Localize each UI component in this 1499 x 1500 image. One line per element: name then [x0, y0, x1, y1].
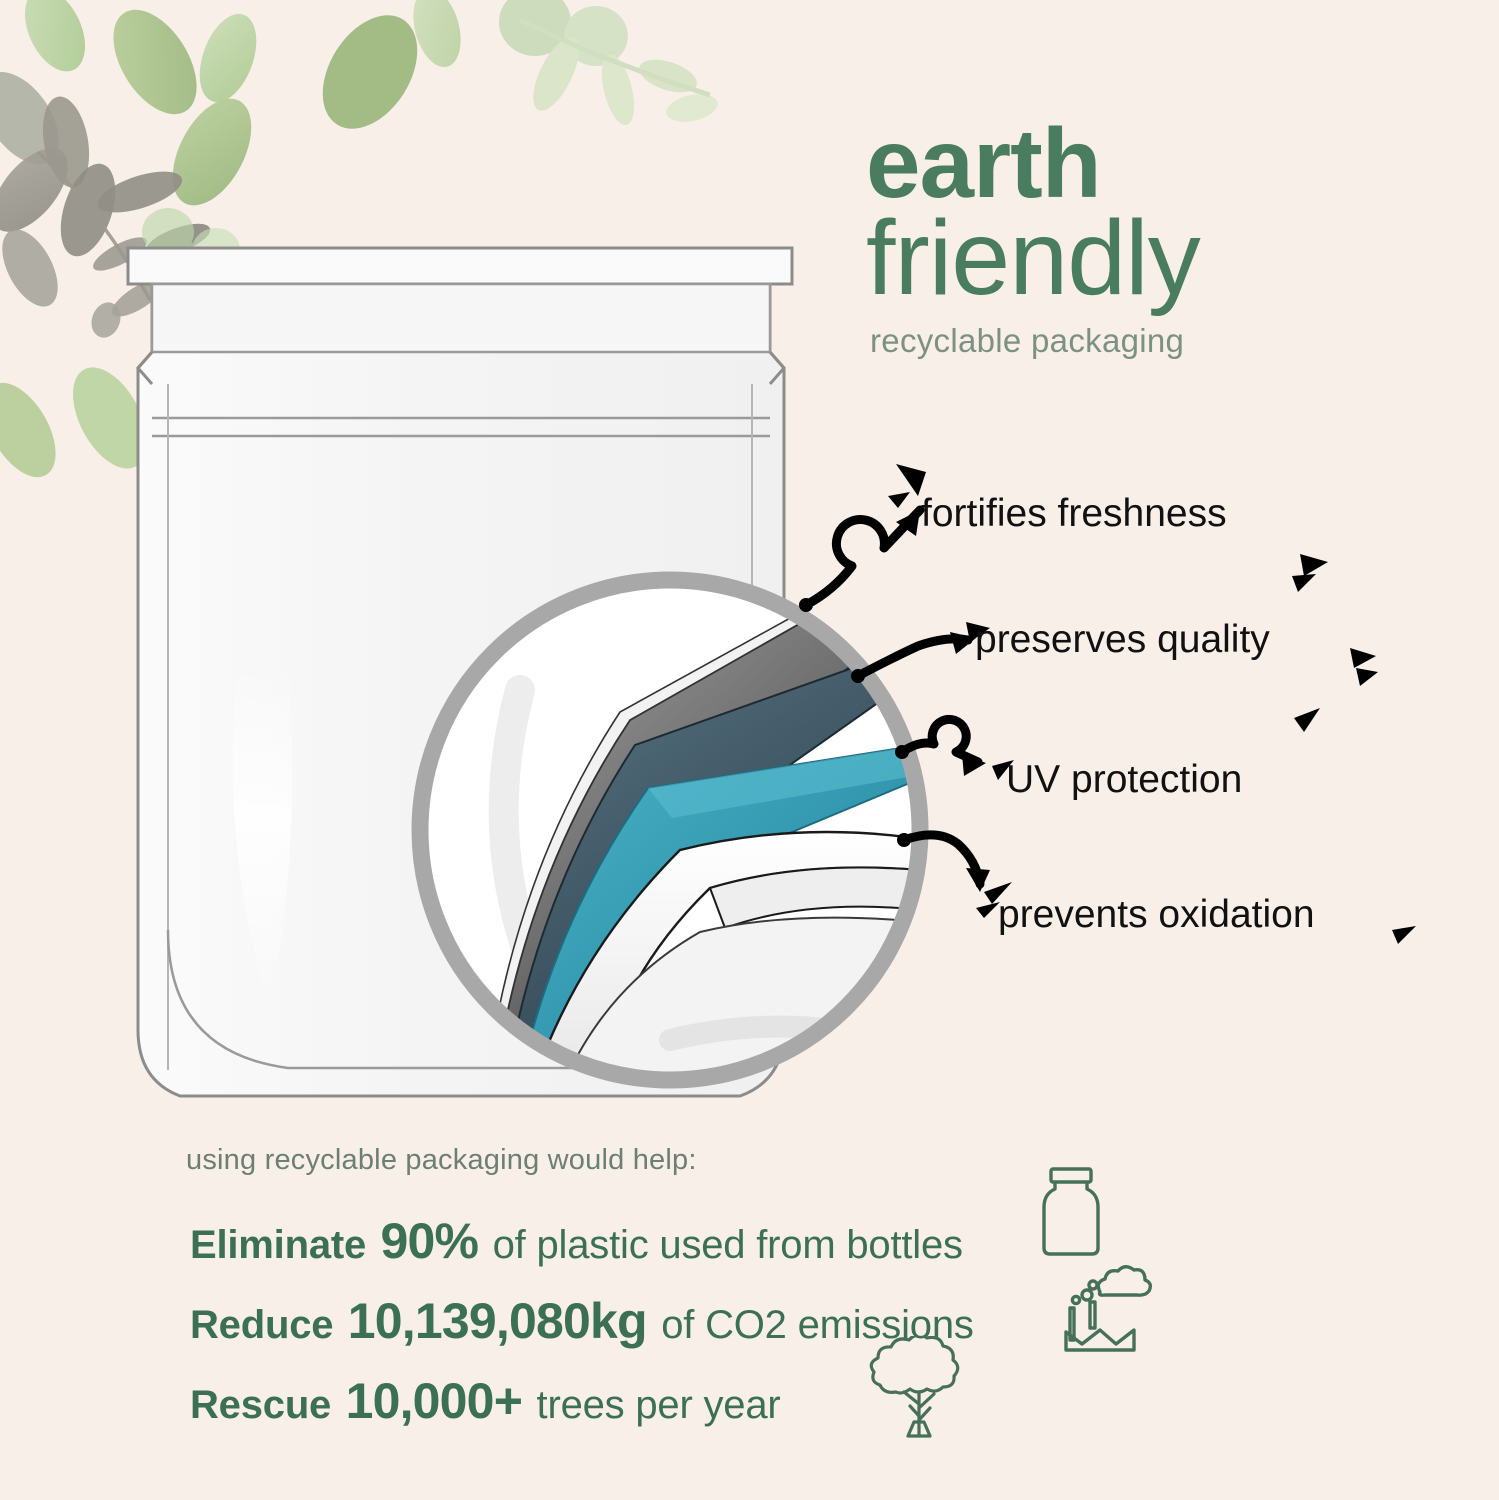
feature-label-preserves-quality: preserves quality — [975, 618, 1270, 662]
infographic-canvas: earth friendly recyclable packaging fort… — [0, 0, 1499, 1500]
bottle-icon — [1034, 1166, 1108, 1263]
factory-icon — [1060, 1262, 1156, 1359]
stat-row-plastic: Eliminate 90% of plastic used from bottl… — [190, 1212, 963, 1270]
stat-rest-plastic: of plastic used from bottles — [493, 1223, 963, 1267]
feature-label-fortifies-freshness: fortifies freshness — [921, 492, 1227, 536]
feature-label-prevents-oxidation: prevents oxidation — [998, 893, 1315, 937]
headline-line-1: earth — [866, 118, 1466, 208]
leaf-group-eucalyptus-top — [499, 0, 720, 128]
stat-row-co2: Reduce 10,139,080kg of CO2 emissions — [190, 1292, 974, 1350]
stat-verb-trees: Rescue — [190, 1383, 331, 1427]
headline-block: earth friendly recyclable packaging — [866, 118, 1466, 360]
headline-subtitle: recyclable packaging — [870, 322, 1466, 360]
stat-verb-co2: Reduce — [190, 1303, 333, 1347]
stat-row-trees: Rescue 10,000+ trees per year — [190, 1372, 781, 1430]
stat-number-plastic: 90% — [381, 1213, 479, 1269]
headline-line-2: friendly — [866, 208, 1466, 310]
stats-intro-text: using recyclable packaging would help: — [186, 1144, 697, 1177]
stat-rest-trees: trees per year — [537, 1383, 781, 1427]
feature-label-uv-protection: UV protection — [1006, 758, 1242, 802]
stat-verb-plastic: Eliminate — [190, 1223, 366, 1267]
magnifier-cross-section — [380, 540, 960, 1120]
tree-icon — [860, 1336, 978, 1453]
leaf-group-olive — [13, 0, 469, 218]
stat-number-co2: 10,139,080kg — [348, 1293, 647, 1349]
stat-number-trees: 10,000+ — [346, 1373, 523, 1429]
